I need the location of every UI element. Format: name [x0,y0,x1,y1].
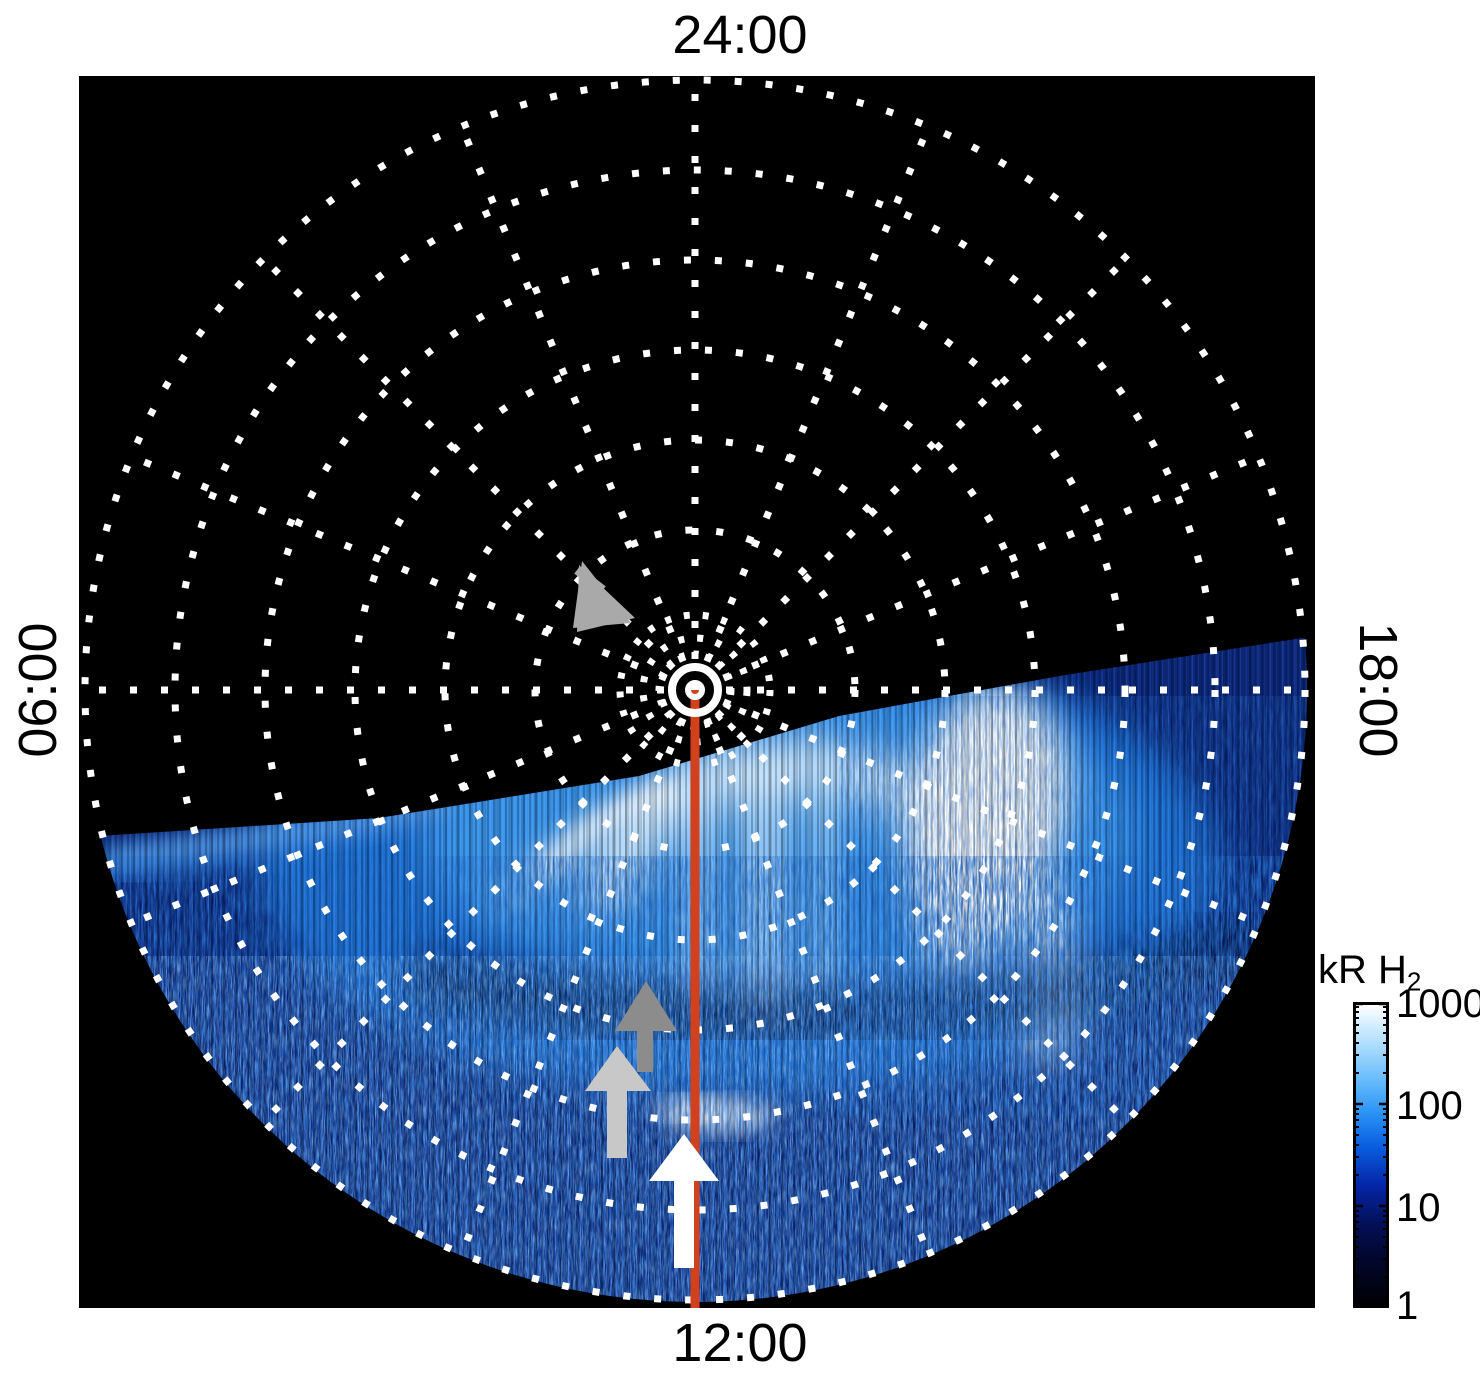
polar-plot-svg [79,76,1315,1308]
axis-label-top-24-00: 24:00 [0,8,1480,62]
colorbar-tick-100: 100 [1396,1086,1463,1126]
figure-canvas: 24:00 12:00 06:00 18:00 [0,0,1480,1384]
colorbar-tick-1: 1 [1396,1286,1418,1326]
colorbar-ticks [1353,1002,1389,1308]
polar-auroral-plot [79,76,1315,1308]
colorbar-title-main: kR H [1318,948,1407,992]
colorbar-tick-10: 10 [1396,1188,1441,1228]
colorbar-tick-1000: 1000 [1396,984,1480,1024]
axis-label-right-18-00: 18:00 [1351,610,1405,770]
colorbar: kR H2 [1318,950,1480,1325]
axis-label-left-06-00: 06:00 [11,610,65,770]
axis-label-bottom-12-00: 12:00 [0,1316,1480,1370]
